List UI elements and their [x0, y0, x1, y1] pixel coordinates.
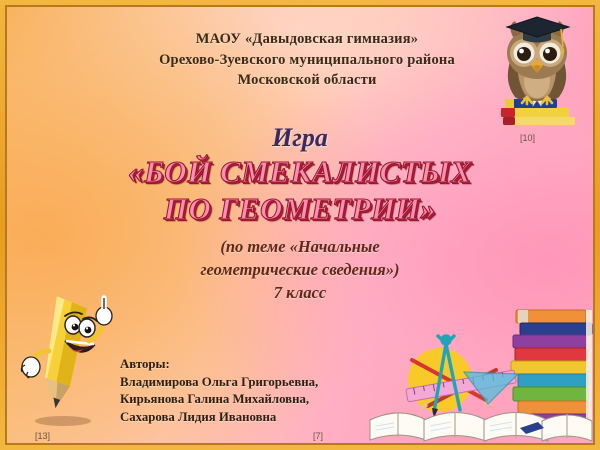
author-name-3: Сахарова Лидия Ивановна	[120, 409, 318, 427]
slide-title: «БОЙ СМЕКАЛИСТЫХ ПО ГЕОМЕТРИИ»	[7, 153, 593, 227]
school-header-line-2: Орехово-Зуевского муниципального района	[67, 50, 547, 71]
authors-label: Авторы:	[120, 356, 318, 374]
slide-title-line-2: ПО ГЕОМЕТРИИ»	[7, 190, 593, 227]
school-header-line-1: МАОУ «Давыдовская гимназия»	[67, 29, 547, 50]
game-label: Игра	[7, 123, 593, 153]
pencil-character-icon	[15, 289, 115, 429]
school-header: МАОУ «Давыдовская гимназия» Орехово-Зуев…	[67, 29, 547, 91]
slide-subtitle-line-1: (по теме «Начальные	[7, 235, 593, 258]
citation-marker-pencil: [13]	[35, 431, 50, 441]
authors-block: Авторы: Владимирова Ольга Григорьевна, К…	[120, 356, 318, 426]
slide-subtitle-line-2: геометрические сведения»)	[7, 258, 593, 281]
presentation-slide: МАОУ «Давыдовская гимназия» Орехово-Зуев…	[0, 0, 600, 450]
citation-marker-owl: [10]	[520, 133, 535, 143]
slide-title-line-1: «БОЙ СМЕКАЛИСТЫХ	[7, 153, 593, 190]
author-name-2: Кирьянова Галина Михайловна,	[120, 391, 318, 409]
slide-inner-frame: МАОУ «Давыдовская гимназия» Орехово-Зуев…	[5, 5, 595, 445]
owl-graduate-icon	[483, 7, 591, 125]
author-name-1: Владимирова Ольга Григорьевна,	[120, 374, 318, 392]
books-and-instruments-icon	[368, 308, 593, 443]
school-header-line-3: Московской области	[67, 70, 547, 91]
citation-marker-books: [7]	[313, 431, 323, 441]
